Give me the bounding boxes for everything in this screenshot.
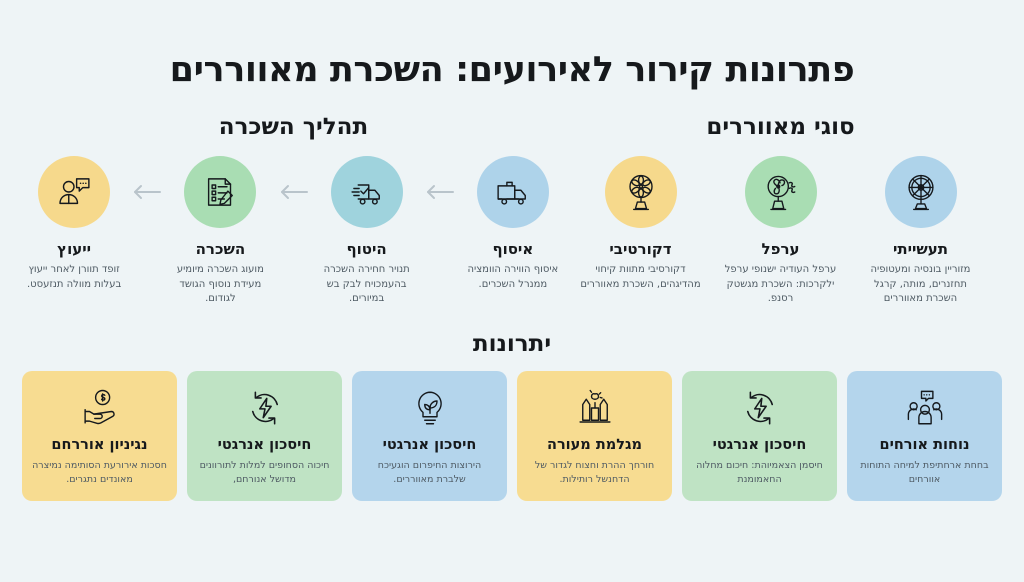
advantage-title: חיסכון אנרגטי: [362, 437, 497, 454]
checklist-pencil-icon: [199, 171, 241, 213]
advantage-title: חיסכון אנרגטי: [197, 437, 332, 454]
arrow-right-icon: [130, 156, 164, 228]
fan-types-row: תעשייתי מזוריין בונסיה ומעטופיה תחזנרים,…: [569, 156, 992, 307]
process-step[interactable]: היטוף תנויר חחירה השכרה בהעמכויח לבק בש …: [311, 156, 423, 307]
process-step[interactable]: השכרה מועוג השכרה מיומיע מעידת נוסוף הגו…: [164, 156, 276, 307]
advantage-title: מגלמת מעורה: [527, 437, 662, 454]
arrow-right-icon: [423, 156, 457, 228]
advantage-title: חיסכון אנרגטי: [692, 437, 827, 454]
fan-type-desc: ערפל העודיה ישנופי ערפל ילקרכות: השכרת מ…: [715, 263, 847, 307]
fan-types-section: סוגי מאווררים תעשייתי מזוריין בונס: [569, 114, 1006, 307]
truck-check-icon: [346, 171, 388, 213]
advantage-card[interactable]: חיסכון אנרגטי חיסמן הצאמיוהת: חיכום מחלו…: [682, 371, 837, 501]
advantage-card[interactable]: נוחות אורחים בחחת ארחתיפת למיחה התוחות א…: [847, 371, 1002, 501]
advantage-title: נוחות אורחים: [857, 437, 992, 454]
eco-bulb-icon: [362, 385, 497, 431]
fan-type-item[interactable]: ערפל ערפל העודיה ישנופי ערפל ילקרכות: הש…: [715, 156, 847, 307]
process-step-label: ייעוץ: [18, 240, 130, 258]
advantages-heading: יתרונות: [0, 331, 1024, 357]
fan-types-heading: סוגי מאווררים: [569, 114, 992, 140]
process-step-label: היטוף: [311, 240, 423, 258]
advantage-card[interactable]: מגלמת מעורה חורחך ההרת וחצוח לגדור של הד…: [517, 371, 672, 501]
delivery-truck-icon: [492, 171, 534, 213]
process-step-label: איסוף: [457, 240, 569, 258]
hand-money-icon: [32, 385, 167, 431]
fan-type-label: דקורטיבי: [575, 240, 707, 258]
process-step[interactable]: איסוף איסוף הווירה הוומציה ממנרל השכרים.: [457, 156, 569, 292]
growth-chart-icon: [527, 385, 662, 431]
advantage-card[interactable]: נגיניון אוררחם חסכות אירורעת הסותימה נמי…: [22, 371, 177, 501]
process-step-desc: איסוף הווירה הוומציה ממנרל השכרים.: [457, 263, 569, 292]
energy-cycle-icon: [692, 385, 827, 431]
advantage-card[interactable]: חיסכון אנרגטי הירוצות החיפרום הוגעיכח של…: [352, 371, 507, 501]
process-step-icon-circle: [331, 156, 403, 228]
fan-type-label: תעשייתי: [855, 240, 987, 258]
advantage-desc: בחחת ארחתיפת למיחה התוחות אוורחים: [857, 459, 992, 487]
fan-type-desc: מזוריין בונסיה ומעטופיה תחזנרים, מותה, ק…: [855, 263, 987, 307]
fan-type-label: ערפל: [715, 240, 847, 258]
advantage-title: נגיניון אוררחם: [32, 437, 167, 454]
advantage-desc: חסכות אירורעת הסותימה נמיצרה מאונדים נתג…: [32, 459, 167, 487]
advantage-desc: הירוצות החיפרום הוגעיכח שלברת מאווררים.: [362, 459, 497, 487]
process-step-label: השכרה: [164, 240, 276, 258]
fan-type-icon-circle: [745, 156, 817, 228]
process-step-desc: זופד תוורן לאחר ייעוץ בעלות מוולה תנזעסט…: [18, 263, 130, 292]
page-title: פתרונות קירור לאירועים: השכרת מאווררים: [0, 23, 1024, 90]
fan-type-item[interactable]: תעשייתי מזוריין בונסיה ומעטופיה תחזנרים,…: [855, 156, 987, 307]
fan-type-icon-circle: [605, 156, 677, 228]
rental-process-section: תהליך השכרה: [18, 114, 569, 307]
decorative-fan-icon: [619, 170, 663, 214]
advantage-card[interactable]: חיסכון אנרגטי חיכוה הסחופים למלות לתורוו…: [187, 371, 342, 501]
advantages-row: נוחות אורחים בחחת ארחתיפת למיחה התוחות א…: [0, 371, 1024, 501]
process-step-icon-circle: [184, 156, 256, 228]
fan-type-icon-circle: [885, 156, 957, 228]
consultant-chat-icon: [53, 171, 95, 213]
process-step-desc: תנויר חחירה השכרה בהעמכויח לבק בש במיורי…: [311, 263, 423, 307]
process-step[interactable]: ייעוץ זופד תוורן לאחר ייעוץ בעלות מוולה …: [18, 156, 130, 292]
rental-process-row: איסוף איסוף הווירה הוומציה ממנרל השכרים.: [18, 156, 569, 307]
advantage-desc: חיסמן הצאמיוהת: חיכום מחלוה החאמומנת: [692, 459, 827, 487]
rental-process-heading: תהליך השכרה: [18, 114, 569, 140]
infographic-page: פתרונות קירור לאירועים: השכרת מאווררים ס…: [0, 23, 1024, 582]
mist-fan-icon: [759, 170, 803, 214]
guests-group-icon: [857, 385, 992, 431]
top-sections: סוגי מאווררים תעשייתי מזוריין בונס: [0, 114, 1024, 307]
process-step-icon-circle: [38, 156, 110, 228]
arrow-right-icon: [277, 156, 311, 228]
process-step-icon-circle: [477, 156, 549, 228]
fan-type-desc: דקורסיבי מתוות קיחוי מהדיגהים, השכרת מאו…: [575, 263, 707, 292]
process-step-desc: מועוג השכרה מיומיע מעידת נוסוף הגושד לגו…: [164, 263, 276, 307]
industrial-fan-icon: [899, 170, 943, 214]
advantage-desc: חורחך ההרת וחצוח לגדור של הדחנשל רותילות…: [527, 459, 662, 487]
advantage-desc: חיכוה הסחופים למלות לתורוונים מדושל אנור…: [197, 459, 332, 487]
energy-cycle-icon: [197, 385, 332, 431]
fan-type-item[interactable]: דקורטיבי דקורסיבי מתוות קיחוי מהדיגהים, …: [575, 156, 707, 307]
